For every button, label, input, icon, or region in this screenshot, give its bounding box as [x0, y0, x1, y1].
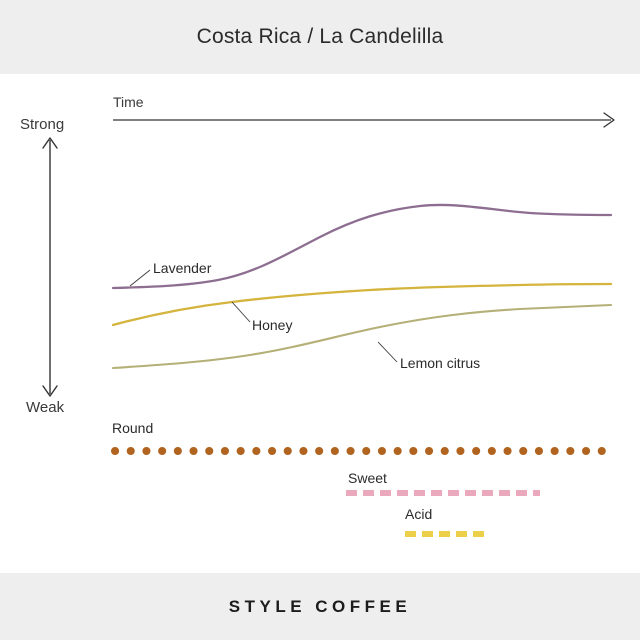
leader-line-honey — [232, 302, 250, 322]
series-line-lemon-citrus — [113, 305, 611, 368]
x-axis-arrow — [113, 113, 614, 127]
x-axis-label: Time — [113, 94, 144, 110]
leader-line-lavender — [130, 270, 150, 286]
y-axis-arrow — [43, 138, 57, 396]
page-title: Costa Rica / La Candelilla — [0, 0, 640, 74]
brand-logo: STYLE COFFEE — [0, 573, 640, 640]
series-line-honey — [113, 284, 611, 325]
chart-svg — [0, 74, 640, 573]
y-axis-bottom-label: Weak — [26, 399, 64, 416]
series-label-honey: Honey — [252, 317, 292, 333]
marker-label-acid: Acid — [405, 506, 432, 522]
series-label-lavender: Lavender — [153, 260, 211, 276]
marker-label-sweet: Sweet — [348, 470, 387, 486]
y-axis-top-label: Strong — [20, 116, 64, 133]
leader-line-lemon-citrus — [378, 342, 397, 362]
chart-canvas: Strong Weak Time Lavender Honey Lemon ci… — [0, 74, 640, 573]
marker-label-round: Round — [112, 420, 153, 436]
flavor-profile-card: Costa Rica / La Candelilla — [0, 0, 640, 640]
series-label-lemon-citrus: Lemon citrus — [400, 355, 480, 371]
